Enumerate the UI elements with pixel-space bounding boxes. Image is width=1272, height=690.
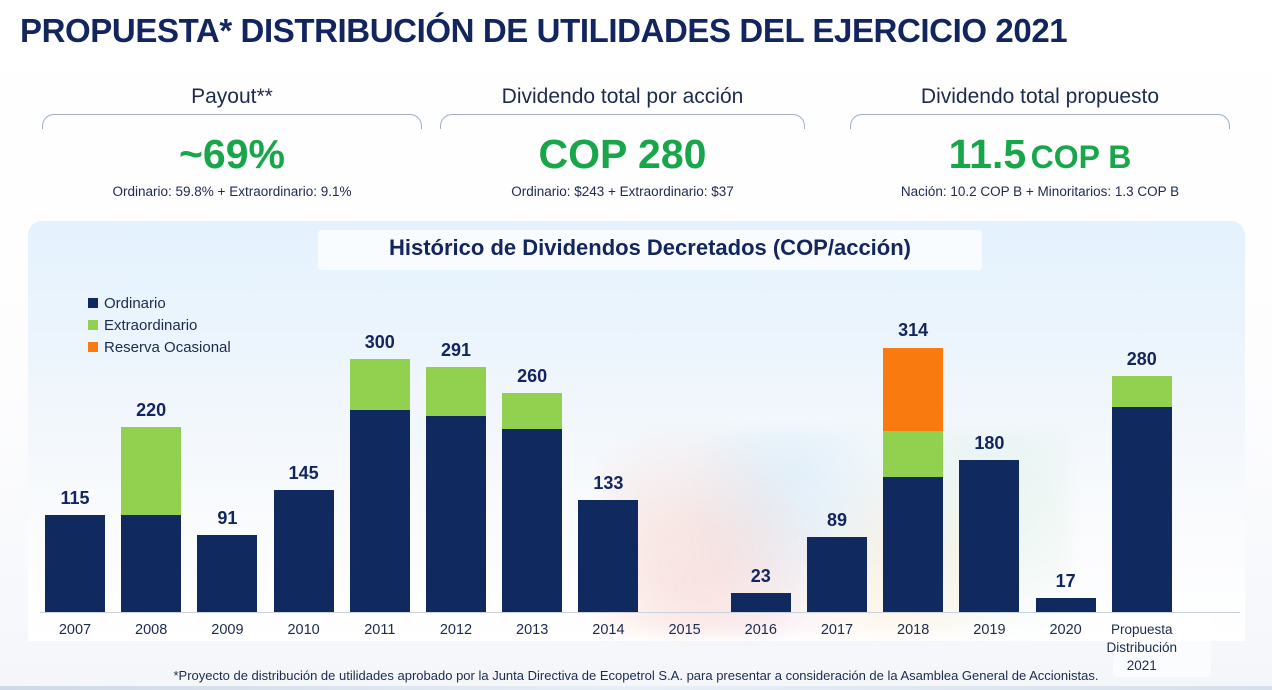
kpi-subtext: Ordinario: 59.8% + Extraordinario: 9.1% [42,184,422,199]
kpi-value: ~69% [42,134,422,176]
kpi-subtext: Nación: 10.2 COP B + Minoritarios: 1.3 C… [850,184,1230,199]
legend-label: Ordinario [104,295,166,312]
legend-label: Reserva Ocasional [104,339,231,356]
legend-swatch-icon [88,320,98,330]
kpi-bracket [42,114,422,129]
x-axis-line [40,612,1240,613]
kpi-heading: Dividendo total por acción [440,84,805,110]
kpi-heading: Dividendo total propuesto [850,84,1230,110]
title-divider [20,57,1252,59]
kpi-card-payout: Payout** ~69% Ordinario: 59.8% + Extraor… [42,84,422,199]
legend-swatch-icon [88,298,98,308]
kpi-value: 11.5 COP B [850,134,1230,176]
legend-label: Extraordinario [104,317,197,334]
kpi-value-main: COP 280 [539,131,707,177]
kpi-card-dividendo-total-propuesto: Dividendo total propuesto 11.5 COP B Nac… [850,84,1230,199]
kpi-value: COP 280 [440,134,805,176]
chart-legend: Ordinario Extraordinario Reserva Ocasion… [88,292,231,358]
legend-item-reserva-ocasional: Reserva Ocasional [88,336,231,358]
slide-root: PROPUESTA* DISTRIBUCIÓN DE UTILIDADES DE… [0,0,1272,690]
chart-title: Histórico de Dividendos Decretados (COP/… [318,235,982,261]
footnote: *Proyecto de distribución de utilidades … [0,668,1272,683]
page-title: PROPUESTA* DISTRIBUCIÓN DE UTILIDADES DE… [20,12,1252,50]
kpi-value-main: 11.5 [949,131,1027,177]
kpi-bracket [850,114,1230,129]
kpi-bracket [440,114,805,129]
kpi-value-unit: COP B [1031,139,1132,175]
kpi-value-main: ~69% [179,131,285,177]
legend-item-ordinario: Ordinario [88,292,231,314]
legend-item-extraordinario: Extraordinario [88,314,231,336]
legend-swatch-icon [88,342,98,352]
bottom-divider [0,686,1272,690]
kpi-heading: Payout** [42,84,422,110]
kpi-subtext: Ordinario: $243 + Extraordinario: $37 [440,184,805,199]
chart-panel [28,221,1245,641]
kpi-card-dividendo-por-accion: Dividendo total por acción COP 280 Ordin… [440,84,805,199]
